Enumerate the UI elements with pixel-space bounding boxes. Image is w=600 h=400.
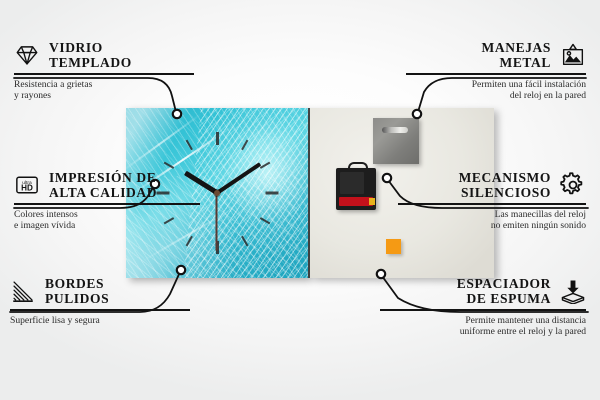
polished-edge-icon	[10, 278, 36, 304]
clock-tick	[186, 236, 193, 247]
quartz-mechanism-box	[336, 168, 376, 210]
callout-header: BORDESPULIDOS	[10, 276, 190, 306]
foam-spacer	[386, 239, 401, 254]
battery-label	[339, 197, 373, 206]
callout-impresion-alta-calidad[interactable]: ultra HD IMPRESIÓN DEALTA CALIDAD Colore…	[14, 170, 200, 232]
callout-rule	[14, 73, 194, 75]
callout-bordes-pulidos[interactable]: BORDESPULIDOS Superficie lisa y segura	[10, 276, 190, 326]
callout-title: ESPACIADORDE ESPUMA	[457, 276, 551, 306]
callout-subtitle: Permite mantener una distanciauniforme e…	[380, 315, 586, 338]
callout-rule	[14, 203, 200, 205]
callout-subtitle: Permiten una fácil instalacióndel reloj …	[406, 79, 586, 102]
picture-hanger-icon	[560, 42, 586, 68]
callout-espaciador-espuma[interactable]: ESPACIADORDE ESPUMA Permite mantener una…	[380, 276, 586, 338]
mechanism-body	[340, 172, 364, 194]
callout-header: VIDRIOTEMPLADO	[14, 40, 194, 70]
callout-subtitle: Colores intensose imagen vívida	[14, 209, 200, 232]
callout-subtitle: Superficie lisa y segura	[10, 315, 190, 327]
ultra-hd-icon: ultra HD	[14, 172, 40, 198]
clock-tick	[260, 217, 271, 224]
svg-text:HD: HD	[21, 184, 33, 193]
hanger-slot	[382, 127, 408, 133]
clock-tick	[260, 162, 271, 169]
callout-rule	[406, 73, 586, 75]
callout-title: BORDESPULIDOS	[45, 276, 109, 306]
callout-title: IMPRESIÓN DEALTA CALIDAD	[49, 170, 157, 200]
callout-mecanismo-silencioso[interactable]: MECANISMOSILENCIOSO Las manecillas del r…	[398, 170, 586, 232]
callout-rule	[10, 309, 190, 311]
clock-tick	[265, 192, 278, 195]
callout-header: ultra HD IMPRESIÓN DEALTA CALIDAD	[14, 170, 200, 200]
clock-tick	[241, 140, 248, 151]
gear-icon	[560, 172, 586, 198]
infographic-canvas: VIDRIOTEMPLADO Resistencia a grietasy ra…	[0, 0, 600, 400]
diamond-icon	[14, 42, 40, 68]
callout-header: MECANISMOSILENCIOSO	[398, 170, 586, 200]
clock-tick	[186, 140, 193, 151]
callout-header: MANEJASMETAL	[406, 40, 586, 70]
callout-title: MANEJASMETAL	[482, 40, 551, 70]
callout-rule	[380, 309, 586, 311]
foam-spacer-icon	[560, 278, 586, 304]
callout-manejas-metal[interactable]: MANEJASMETAL Permiten una fácil instalac…	[406, 40, 586, 102]
callout-vidrio-templado[interactable]: VIDRIOTEMPLADO Resistencia a grietasy ra…	[14, 40, 194, 102]
metal-hanger-plate	[373, 118, 419, 164]
callout-rule	[398, 203, 586, 205]
clock-tick	[216, 132, 219, 145]
callout-header: ESPACIADORDE ESPUMA	[380, 276, 586, 306]
callout-subtitle: Resistencia a grietasy rayones	[14, 79, 194, 102]
clock-minute-hand	[216, 162, 261, 194]
callout-title: VIDRIOTEMPLADO	[49, 40, 132, 70]
callout-subtitle: Las manecillas del relojno emiten ningún…	[398, 209, 586, 232]
clock-tick	[164, 162, 175, 169]
callout-title: MECANISMOSILENCIOSO	[459, 170, 551, 200]
clock-tick	[241, 236, 248, 247]
battery-tip	[369, 198, 375, 205]
clock-hub	[214, 190, 220, 196]
